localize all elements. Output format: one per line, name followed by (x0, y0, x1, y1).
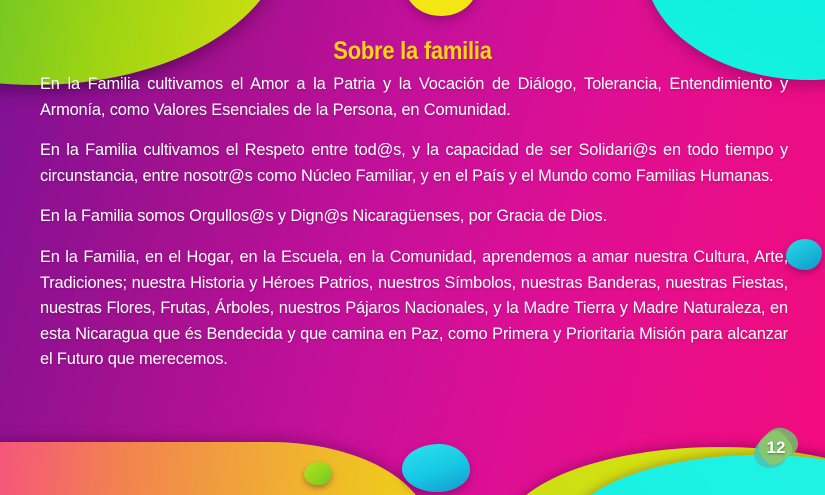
paragraph: En la Familia somos Orgullos@s y Dign@s … (40, 204, 788, 230)
paragraph: En la Familia, en el Hogar, en la Escuel… (40, 245, 788, 373)
paragraph: En la Familia cultivamos el Amor a la Pa… (40, 72, 788, 123)
page-number-label: 12 (752, 426, 800, 470)
presentation-slide: Sobre la familia En la Familia cultivamo… (0, 0, 825, 495)
page-number-badge: 12 (752, 426, 800, 474)
paragraph: En la Familia cultivamos el Respeto entr… (40, 138, 788, 189)
slide-body: En la Familia cultivamos el Amor a la Pa… (40, 72, 788, 373)
slide-title: Sobre la familia (50, 37, 776, 66)
slide-content: Sobre la familia En la Familia cultivamo… (0, 0, 825, 495)
